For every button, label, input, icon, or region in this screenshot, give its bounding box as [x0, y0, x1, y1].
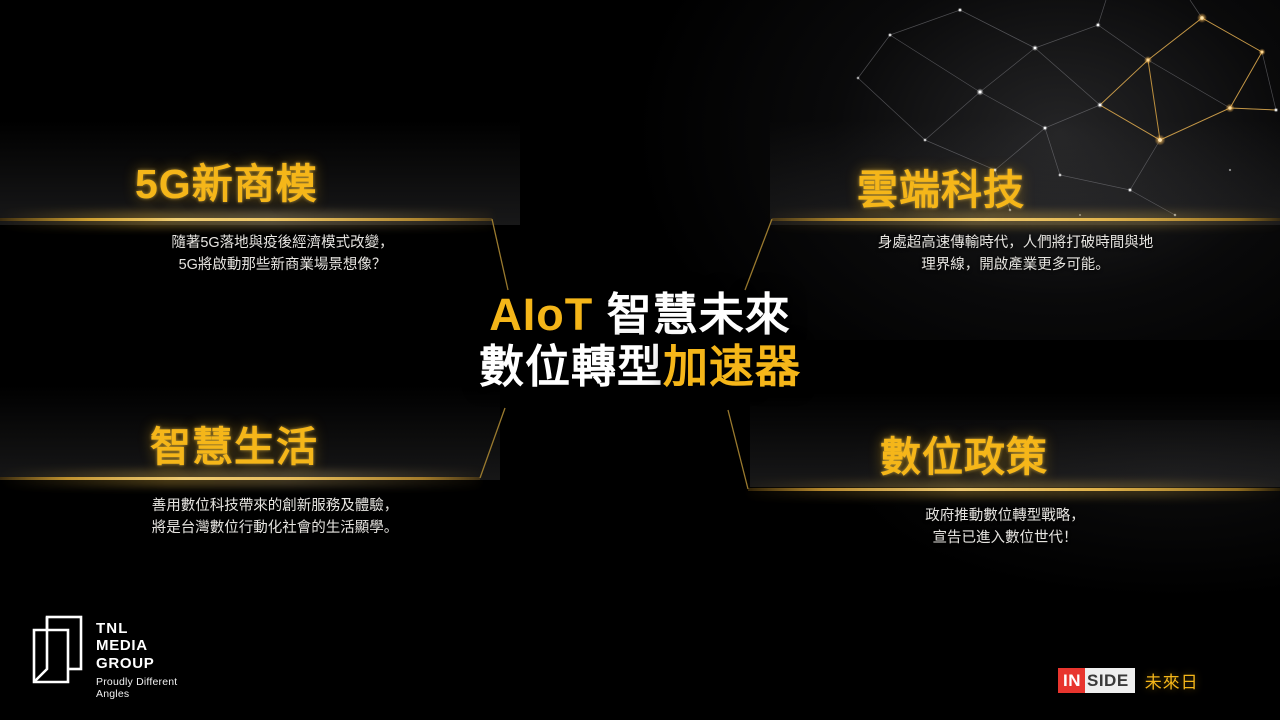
- title-line-2: 數位轉型加速器: [0, 341, 1280, 393]
- page-title: AIoT 智慧未來 數位轉型加速器: [0, 289, 1280, 393]
- tnl-media-group-logo: TNL MEDIA GROUP Proudly Different Angles: [30, 612, 210, 690]
- body-line: 宣告已進入數位世代！: [860, 527, 1150, 549]
- body-line: 身處超高速傳輸時代，人們將打破時間與地: [823, 232, 1208, 254]
- quadrant-heading-digital-policy: 數位政策: [880, 423, 1048, 483]
- inside-wordmark: IN SIDE: [1058, 668, 1135, 693]
- title-line-1: AIoT 智慧未來: [0, 289, 1280, 341]
- inside-future-day-logo: IN SIDE 未來日: [1058, 668, 1199, 693]
- quadrant-body-smart-life: 善用數位科技帶來的創新服務及體驗， 將是台灣數位行動化社會的生活顯學。: [105, 495, 445, 539]
- title-aiot: AIoT: [489, 289, 593, 340]
- inside-side-block: SIDE: [1085, 668, 1135, 693]
- inside-in-block: IN: [1058, 668, 1085, 693]
- tnl-line-2: MEDIA GROUP: [96, 637, 210, 673]
- quadrant-body-digital-policy: 政府推動數位轉型戰略， 宣告已進入數位世代！: [860, 505, 1150, 549]
- quadrant-heading-cloud: 雲端科技: [857, 156, 1025, 216]
- body-line: 將是台灣數位行動化社會的生活顯學。: [105, 517, 445, 539]
- presentation-slide: 5G新商模 隨著5G落地與疫後經濟模式改變， 5G將啟動那些新商業場景想像？ 雲…: [0, 0, 1280, 720]
- body-line: 隨著5G落地與疫後經濟模式改變，: [110, 232, 455, 254]
- tnl-logo-text: TNL MEDIA GROUP Proudly Different Angles: [96, 620, 210, 700]
- quadrant-body-5g: 隨著5G落地與疫後經濟模式改變， 5G將啟動那些新商業場景想像？: [110, 232, 455, 276]
- body-line: 理界線，開啟產業更多可能。: [823, 254, 1208, 276]
- tnl-mark-icon: [30, 614, 86, 686]
- body-line: 5G將啟動那些新商業場景想像？: [110, 254, 455, 276]
- title-smart-future: 智慧未來: [607, 289, 791, 340]
- quadrant-heading-5g: 5G新商模: [135, 150, 318, 210]
- title-accelerator: 加速器: [663, 341, 801, 392]
- quadrant-body-cloud: 身處超高速傳輸時代，人們將打破時間與地 理界線，開啟產業更多可能。: [823, 232, 1208, 276]
- tnl-tagline: Proudly Different Angles: [96, 676, 210, 700]
- tnl-line-1: TNL: [96, 620, 210, 637]
- title-digital-transformation: 數位轉型: [479, 341, 663, 392]
- quadrant-heading-smart-life: 智慧生活: [150, 413, 318, 473]
- body-line: 善用數位科技帶來的創新服務及體驗，: [105, 495, 445, 517]
- inside-chinese-label: 未來日: [1145, 668, 1199, 693]
- body-line: 政府推動數位轉型戰略，: [860, 505, 1150, 527]
